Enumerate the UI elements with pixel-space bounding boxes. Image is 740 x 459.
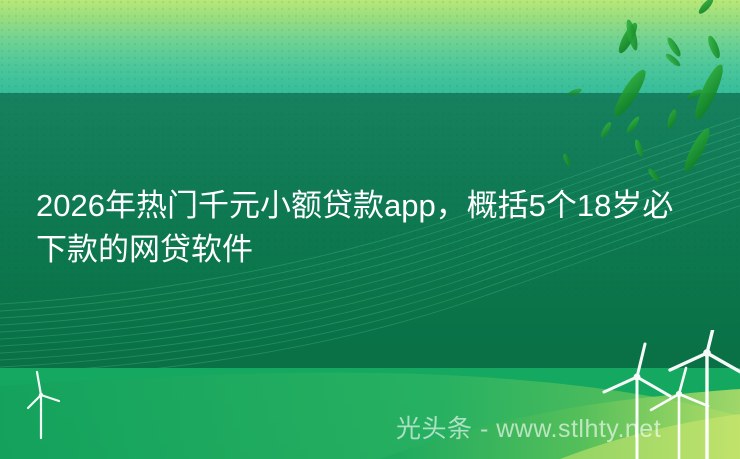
poster-canvas: 2026年热门千元小额贷款app，概括5个18岁必下款的网贷软件 光头条 - w…	[0, 0, 740, 459]
wind-turbine-cluster-right	[0, 330, 740, 459]
poster-title: 2026年热门千元小额贷款app，概括5个18岁必下款的网贷软件	[36, 184, 704, 272]
